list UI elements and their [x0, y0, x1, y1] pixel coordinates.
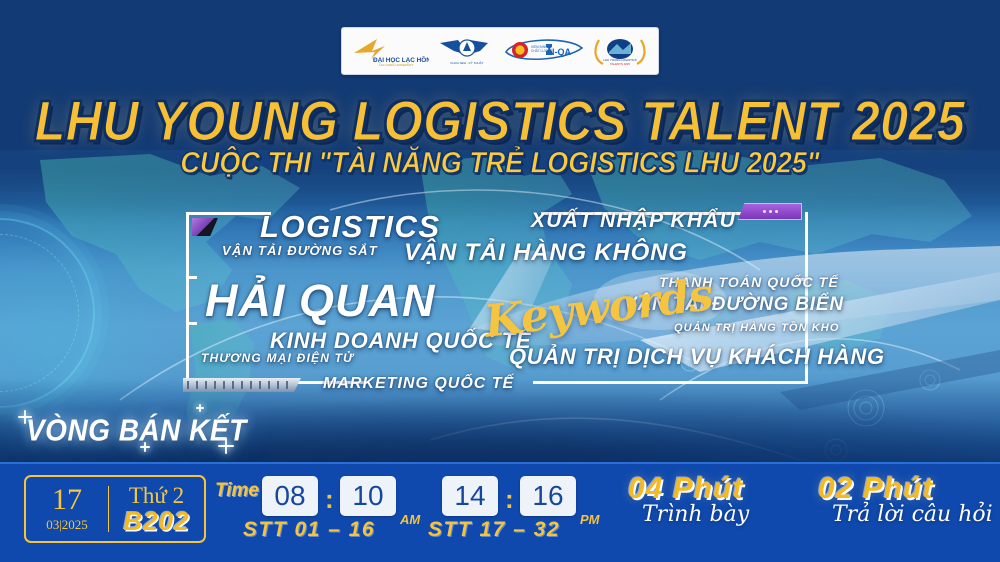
duration-qa-label: Trả lời câu hỏi	[832, 502, 993, 527]
keyword-marketing-quoc-te: MARKETING QUỐC TẾ	[323, 375, 514, 393]
keyword-thuong-mai-dien-tu: THƯƠNG MẠI ĐIỆN TỬ	[201, 351, 354, 365]
time-label: Time	[215, 480, 259, 502]
slot-morning-colon: :	[325, 484, 334, 515]
keyword-van-tai-duong-sat: VẬN TẢI ĐƯỜNG SẮT	[222, 243, 378, 258]
keyword-xuat-nhap-khau: XUẤT NHẬP KHẨU	[531, 209, 736, 233]
date-block: 17 03|2025	[26, 477, 108, 541]
organizer-logo-strip: ĐẠI HỌC LẠC HỒNG LAC HONG UNIVERSITY KHO…	[341, 27, 659, 75]
slot-afternoon-range: STT 17 – 32	[428, 518, 560, 542]
slot-morning-meridiem: AM	[400, 512, 420, 527]
svg-text:TALENTS 2025: TALENTS 2025	[610, 62, 630, 66]
svg-text:LAC HONG UNIVERSITY: LAC HONG UNIVERSITY	[379, 63, 414, 67]
svg-text:KHOA SĐH - KỸ THUẬT: KHOA SĐH - KỸ THUẬT	[450, 60, 483, 65]
radar-circle-icon	[0, 218, 95, 408]
date-day-of-week: Thứ 2	[129, 484, 184, 508]
keyword-quan-tri-dich-vu-khach-hang: QUẢN TRỊ DỊCH VỤ KHÁCH HÀNG	[509, 344, 885, 370]
slot-afternoon-minute: 16	[520, 476, 576, 516]
un-qa-accreditation-logo: KIỂM ĐỊNH CHẤT LƯỢNG N-QA	[504, 31, 584, 71]
date-month-year: 03|2025	[46, 517, 88, 533]
slot-afternoon-colon: :	[505, 484, 514, 515]
lac-hong-university-logo: ĐẠI HỌC LẠC HỒNG LAC HONG UNIVERSITY	[351, 31, 429, 71]
menu-dots-icon	[738, 203, 802, 220]
faculty-logo: KHOA SĐH - KỸ THUẬT	[436, 31, 498, 71]
date-room-box: 17 03|2025 Thứ 2 B202	[24, 475, 206, 543]
duration-presentation-amount: 04 Phút	[628, 472, 749, 506]
room-code: B202	[123, 508, 189, 534]
slot-afternoon-meridiem: PM	[580, 512, 600, 527]
lhu-young-logistics-talent-logo: LHU YOUNG LOGISTICS TALENTS 2025	[591, 31, 649, 71]
keywords-script-word: Keywords	[482, 269, 715, 348]
ribbed-bar-decoration	[183, 378, 301, 392]
duration-qa: 02 Phút Trả lời câu hỏi	[818, 472, 993, 527]
keyword-van-tai-hang-khong: VẬN TẢI HÀNG KHÔNG	[404, 239, 688, 267]
slot-morning-range: STT 01 – 16	[243, 518, 375, 542]
page-title: LHU YOUNG LOGISTICS TALENT 2025	[0, 89, 1000, 154]
slot-afternoon-hour: 14	[442, 476, 498, 516]
duration-qa-amount: 02 Phút	[818, 472, 993, 506]
duration-presentation: 04 Phút Trình bày	[628, 472, 749, 527]
poster-canvas: ĐẠI HỌC LẠC HỒNG LAC HONG UNIVERSITY KHO…	[0, 0, 1000, 562]
day-room-block: Thứ 2 B202	[109, 477, 204, 541]
slot-morning-hour: 08	[262, 476, 318, 516]
keyword-quan-tri-hang-ton-kho: QUẢN TRỊ HÀNG TỒN KHO	[674, 322, 839, 334]
keyword-hai-quan: HẢI QUAN	[205, 275, 436, 327]
corner-flag-icon	[192, 218, 218, 236]
page-subtitle: CUỘC THI "TÀI NĂNG TRẺ LOGISTICS LHU 202…	[0, 147, 1000, 180]
slot-morning-minute: 10	[340, 476, 396, 516]
duration-presentation-label: Trình bày	[642, 502, 749, 527]
sparkle-icon	[196, 404, 204, 412]
date-day: 17	[52, 485, 82, 515]
round-label: VÒNG BÁN KẾT	[26, 414, 247, 449]
